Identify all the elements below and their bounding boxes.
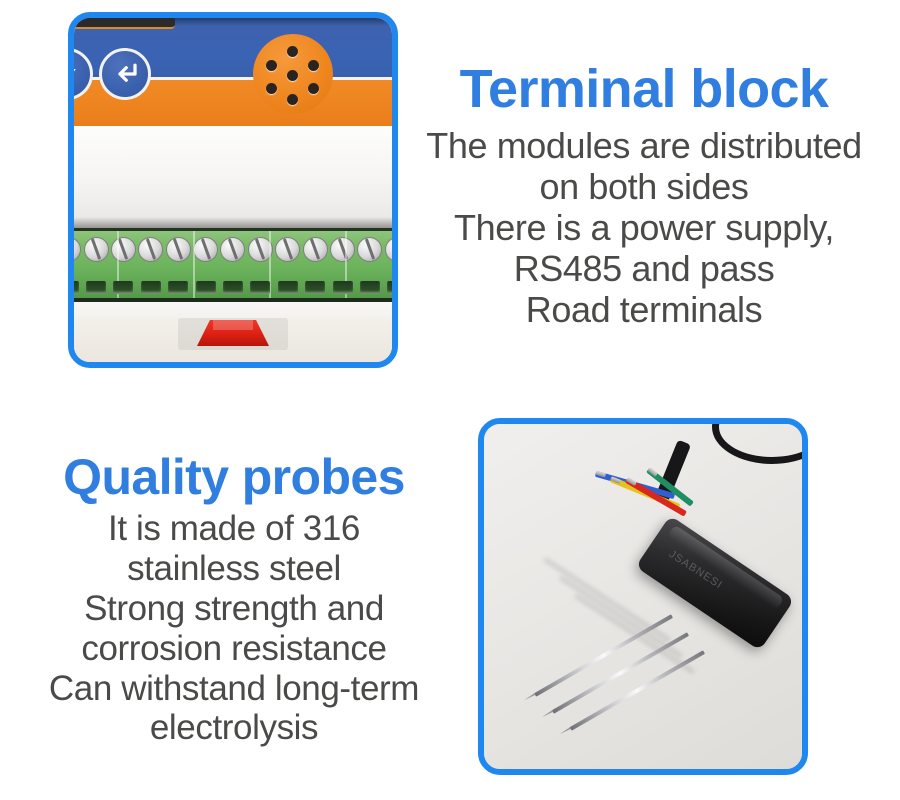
terminal-block-line-1: The modules are distributed xyxy=(398,125,890,166)
terminal-wire-port xyxy=(360,281,380,294)
terminal-block-line-5: Road terminals xyxy=(398,289,890,330)
terminal-block-line-4: RS485 and pass xyxy=(398,248,890,289)
terminal-wire-port-row xyxy=(74,279,392,296)
probe-background-surface: JSABNESI xyxy=(484,424,802,769)
terminal-wire-port xyxy=(74,281,79,294)
terminal-wire-port xyxy=(223,281,243,294)
terminal-wire-port xyxy=(250,281,270,294)
quality-probes-heading: Quality probes xyxy=(8,452,460,503)
terminal-wire-port xyxy=(86,281,106,294)
terminal-screw xyxy=(166,237,191,262)
terminal-block-photo xyxy=(68,12,398,368)
module-front-panel xyxy=(74,126,392,231)
module-lower-shell xyxy=(74,302,392,362)
quality-probes-photo-inner: JSABNESI xyxy=(484,424,802,769)
terminal-screw xyxy=(220,237,245,262)
probe-brand-label: JSABNESI xyxy=(667,548,725,591)
terminal-screw xyxy=(303,237,328,262)
terminal-screw xyxy=(193,237,218,262)
quality-probes-photo: JSABNESI xyxy=(478,418,808,775)
probe-cable-loop xyxy=(712,424,802,464)
module-housing xyxy=(74,18,392,362)
quality-probes-line-1: It is made of 316 xyxy=(8,509,460,549)
terminal-wire-port xyxy=(278,281,298,294)
enter-arrow-button[interactable] xyxy=(99,48,151,100)
infographic-page: Terminal block The modules are distribut… xyxy=(0,0,900,800)
quality-probes-text: Quality probes It is made of 316 stainle… xyxy=(8,452,460,748)
terminal-wire-port xyxy=(168,281,188,294)
terminal-screw xyxy=(74,237,81,262)
module-top-edge xyxy=(74,18,175,29)
terminal-screw xyxy=(275,237,300,262)
terminal-block-line-2: on both sides xyxy=(398,166,890,207)
terminal-screw xyxy=(138,237,163,262)
terminal-wire-port xyxy=(196,281,216,294)
terminal-screw xyxy=(111,237,136,262)
terminal-block-text: Terminal block The modules are distribut… xyxy=(398,62,890,330)
terminal-wire-port xyxy=(113,281,133,294)
terminal-block-line-3: There is a power supply, xyxy=(398,207,890,248)
terminal-screw xyxy=(357,237,382,262)
quality-probes-line-2: stainless steel xyxy=(8,549,460,589)
terminal-block-heading: Terminal block xyxy=(398,62,890,117)
green-terminal-block xyxy=(74,228,392,302)
terminal-screw xyxy=(330,237,355,262)
quality-probes-line-6: electrolysis xyxy=(8,708,460,748)
terminal-block-photo-inner xyxy=(74,18,392,362)
terminal-wire-port xyxy=(141,281,161,294)
quality-probes-line-5: Can withstand long-term xyxy=(8,669,460,709)
terminal-screw xyxy=(385,237,392,262)
terminal-screw xyxy=(84,237,109,262)
quality-probes-line-4: corrosion resistance xyxy=(8,629,460,669)
buzzer-grille-icon xyxy=(253,34,333,114)
quality-probes-line-3: Strong strength and xyxy=(8,589,460,629)
terminal-wire-port xyxy=(305,281,325,294)
terminal-wire-port xyxy=(387,281,392,294)
terminal-wire-port xyxy=(333,281,353,294)
